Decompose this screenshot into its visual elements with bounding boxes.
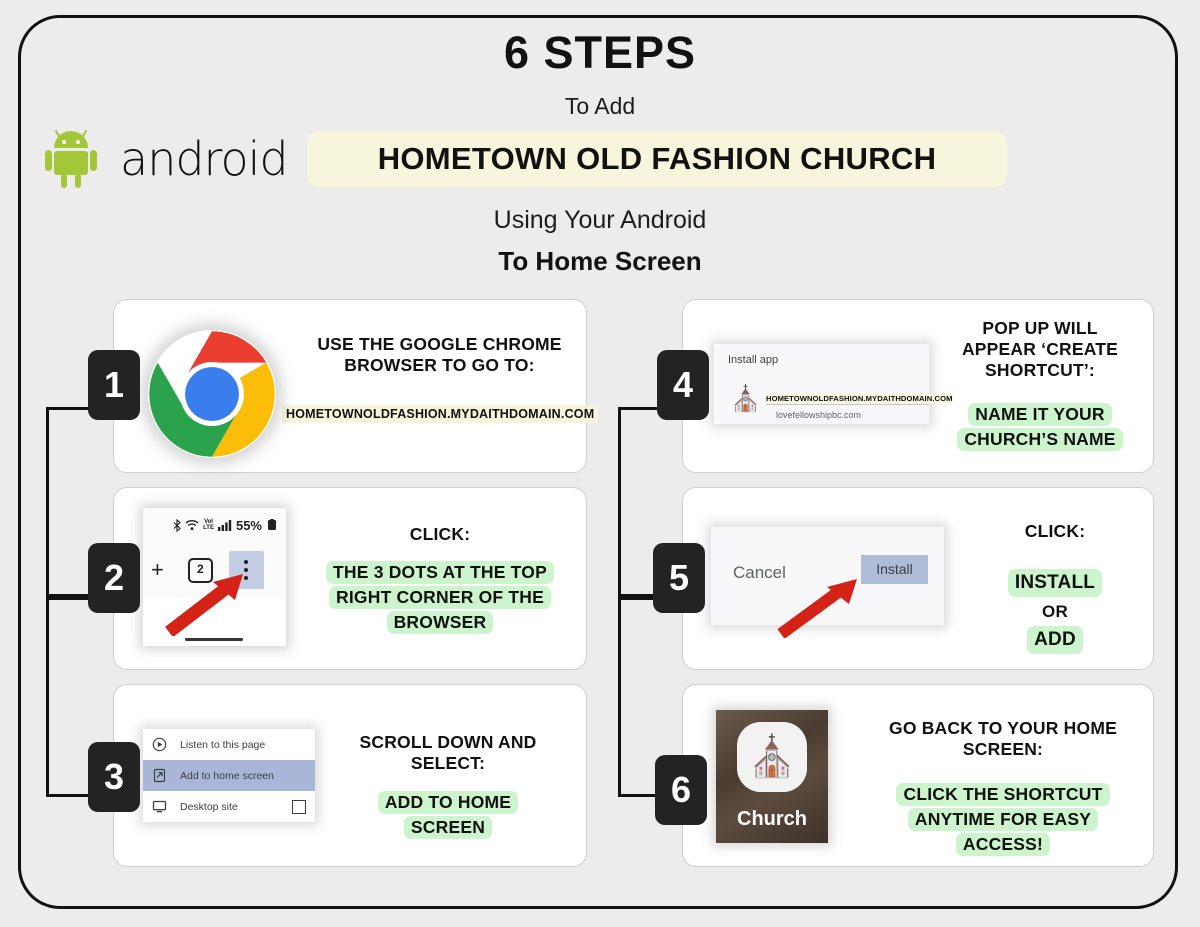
step-4-caption-line-1: POP UP WILL xyxy=(930,318,1150,339)
step-4-caption: POP UP WILL APPEAR ‘CREATE SHORTCUT’: xyxy=(930,318,1150,381)
chrome-menu-screenshot: Listen to this page Add to home screen D… xyxy=(143,729,315,822)
step-6-caption-line-1: GO BACK TO YOUR HOME xyxy=(858,718,1148,739)
step-2-caption-line-1: CLICK: xyxy=(325,524,555,545)
android-wordmark: android xyxy=(120,132,288,186)
home-screen-app-icon[interactable]: ⛪ Church xyxy=(716,710,828,843)
step-badge-3: 3 xyxy=(88,742,140,812)
menu-item-add-to-home-label: Add to home screen xyxy=(180,770,274,782)
subtitle-to-home-screen: To Home Screen xyxy=(0,246,1200,277)
menu-item-listen[interactable]: Listen to this page xyxy=(143,729,315,760)
battery-icon xyxy=(266,519,278,531)
step-4-highlight: NAME IT YOUR CHURCH’S NAME xyxy=(930,402,1150,452)
step-5-hl-add: ADD xyxy=(1027,626,1083,654)
church-app-squircle: ⛪ xyxy=(737,722,807,792)
step-5-highlight: INSTALL OR ADD xyxy=(960,568,1150,655)
step-2-caption: CLICK: xyxy=(325,524,555,545)
new-tab-plus-icon[interactable]: + xyxy=(151,559,164,581)
step-4-hl-line-2: CHURCH’S NAME xyxy=(957,428,1122,451)
menu-item-listen-label: Listen to this page xyxy=(180,739,265,751)
connector-2-3-b xyxy=(46,597,49,797)
header: 6 STEPS To Add HOMETOWN OLD FASHION CHUR… xyxy=(0,0,1200,290)
add-to-home-icon xyxy=(152,768,167,783)
page-title: 6 STEPS xyxy=(0,27,1200,79)
step-2-hl-line-2: RIGHT CORNER OF THE xyxy=(329,586,551,609)
install-app-dialog: Install app ⛪ HOMETOWNOLDFASHION.MYDAITH… xyxy=(714,344,929,424)
android-robot-icon xyxy=(42,120,112,190)
church-name-banner: HOMETOWN OLD FASHION CHURCH xyxy=(307,131,1007,187)
chrome-logo-icon xyxy=(148,330,276,458)
step-6-caption: GO BACK TO YOUR HOME SCREEN: xyxy=(858,718,1148,760)
desktop-site-checkbox[interactable] xyxy=(292,800,306,814)
subtitle-to-add: To Add xyxy=(0,93,1200,120)
step-badge-1: 1 xyxy=(88,350,140,420)
step-3-caption-line-1: SCROLL DOWN AND xyxy=(330,732,566,753)
battery-percent: 55% xyxy=(236,518,262,533)
monitor-icon xyxy=(152,799,167,814)
red-arrow-step5 xyxy=(775,576,865,638)
step-1-caption-line-2: BROWSER TO GO TO: xyxy=(297,355,582,376)
connector-1-2-b xyxy=(46,407,49,597)
step-1-url-wrap: HOMETOWNOLDFASHION.MYDAITHDOMAIN.COM xyxy=(282,405,582,423)
step-3-caption: SCROLL DOWN AND SELECT: xyxy=(330,732,566,774)
play-circle-icon xyxy=(152,737,167,752)
dot xyxy=(244,560,248,564)
install-domain-text: lovefellowshipbc.com xyxy=(776,410,861,420)
church-icon: ⛪ xyxy=(747,737,797,777)
church-app-label: Church xyxy=(716,808,828,831)
step-3-caption-line-2: SELECT: xyxy=(330,753,566,774)
volte-indicator: VoIVoLTELTE xyxy=(203,519,214,531)
install-url-text: HOMETOWNOLDFASHION.MYDAITHDOMAIN.COM xyxy=(766,394,953,403)
connector-4-5-b xyxy=(618,407,621,597)
step-3-highlight: ADD TO HOME SCREEN xyxy=(330,790,566,840)
install-button[interactable]: Install xyxy=(861,555,928,584)
step-5-caption-line-1: CLICK: xyxy=(960,521,1150,542)
step-2-highlight: THE 3 DOTS AT THE TOP RIGHT CORNER OF TH… xyxy=(318,560,562,635)
step-4-caption-line-3: SHORTCUT’: xyxy=(930,360,1150,381)
signal-bars-icon xyxy=(218,519,232,531)
step-1-caption-line-1: USE THE GOOGLE CHROME xyxy=(297,334,582,355)
menu-item-desktop-site-label: Desktop site xyxy=(180,801,238,813)
church-name-text: HOMETOWN OLD FASHION CHURCH xyxy=(307,131,1007,187)
step-3-hl-line-1: ADD TO HOME xyxy=(378,791,518,814)
install-url-underline xyxy=(766,404,929,405)
step-4-hl-line-1: NAME IT YOUR xyxy=(968,403,1111,426)
android-logo: android xyxy=(42,120,272,200)
step-6-hl-line-1: CLICK THE SHORTCUT xyxy=(896,783,1109,806)
step-5-or-text: OR xyxy=(1042,602,1068,621)
install-dialog-title: Install app xyxy=(728,354,778,366)
church-icon: ⛪ xyxy=(730,387,761,412)
phone-status-bar: VoIVoLTELTE 55% xyxy=(143,508,286,542)
step-badge-5: 5 xyxy=(653,543,705,613)
step-badge-6: 6 xyxy=(655,755,707,825)
red-arrow-step2 xyxy=(163,570,249,636)
step-badge-4: 4 xyxy=(657,350,709,420)
step-1-url: HOMETOWNOLDFASHION.MYDAITHDOMAIN.COM xyxy=(282,405,598,423)
wifi-icon xyxy=(185,519,199,531)
subtitle-using-android: Using Your Android xyxy=(0,206,1200,235)
menu-item-add-to-home[interactable]: Add to home screen xyxy=(143,760,315,791)
step-2-hl-line-1: THE 3 DOTS AT THE TOP xyxy=(326,561,554,584)
step-6-hl-line-3: ACCESS! xyxy=(956,833,1050,856)
step-1-caption: USE THE GOOGLE CHROME BROWSER TO GO TO: xyxy=(297,334,582,376)
step-6-caption-line-2: SCREEN: xyxy=(858,739,1148,760)
step-5-hl-install: INSTALL xyxy=(1008,569,1102,597)
step-3-hl-line-2: SCREEN xyxy=(404,816,492,839)
menu-item-desktop-site[interactable]: Desktop site xyxy=(143,791,315,822)
step-6-hl-line-2: ANYTIME FOR EASY xyxy=(908,808,1098,831)
step-4-caption-line-2: APPEAR ‘CREATE xyxy=(930,339,1150,360)
connector-5-6-b xyxy=(618,597,621,797)
step-6-highlight: CLICK THE SHORTCUT ANYTIME FOR EASY ACCE… xyxy=(858,782,1148,857)
step-badge-2: 2 xyxy=(88,543,140,613)
step-5-caption: CLICK: xyxy=(960,521,1150,542)
bluetooth-icon xyxy=(173,519,181,532)
gesture-bar xyxy=(185,638,243,641)
step-2-hl-line-3: BROWSER xyxy=(387,611,494,634)
